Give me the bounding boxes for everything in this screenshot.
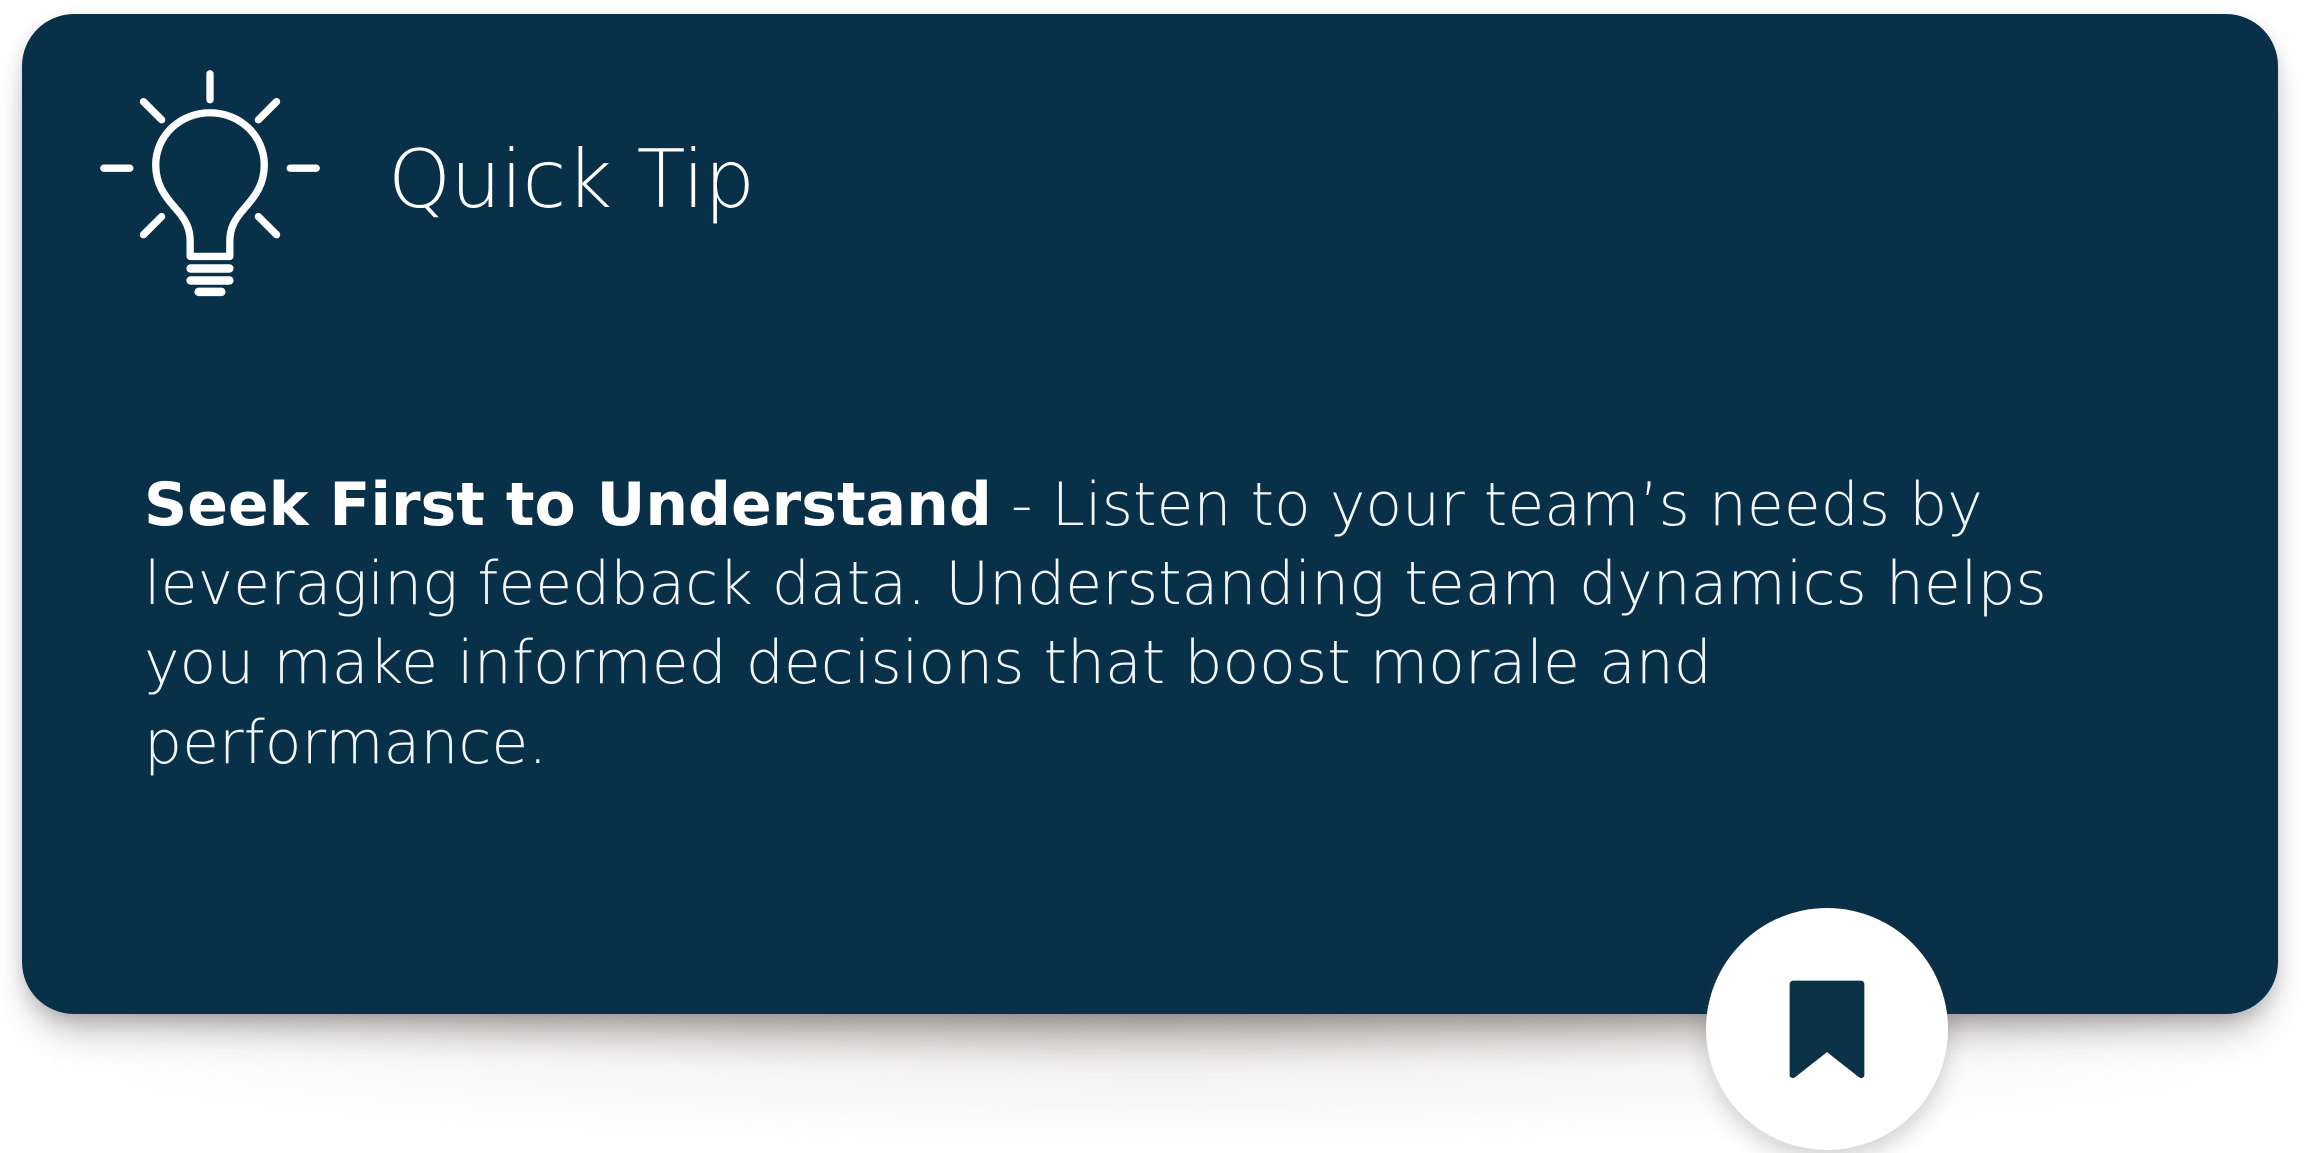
page-canvas: Quick Tip Seek First to Understand - Lis… — [0, 0, 2304, 1153]
card-body-text: Seek First to Understand - Listen to you… — [144, 466, 2134, 783]
quick-tip-card: Quick Tip Seek First to Understand - Lis… — [22, 14, 2278, 1014]
card-title: Quick Tip — [388, 140, 755, 220]
lightbulb-icon — [92, 62, 328, 298]
bookmark-button[interactable] — [1706, 908, 1948, 1150]
bookmark-icon — [1788, 977, 1866, 1081]
card-body-lead: Seek First to Understand — [144, 470, 992, 540]
card-header: Quick Tip — [92, 62, 755, 298]
